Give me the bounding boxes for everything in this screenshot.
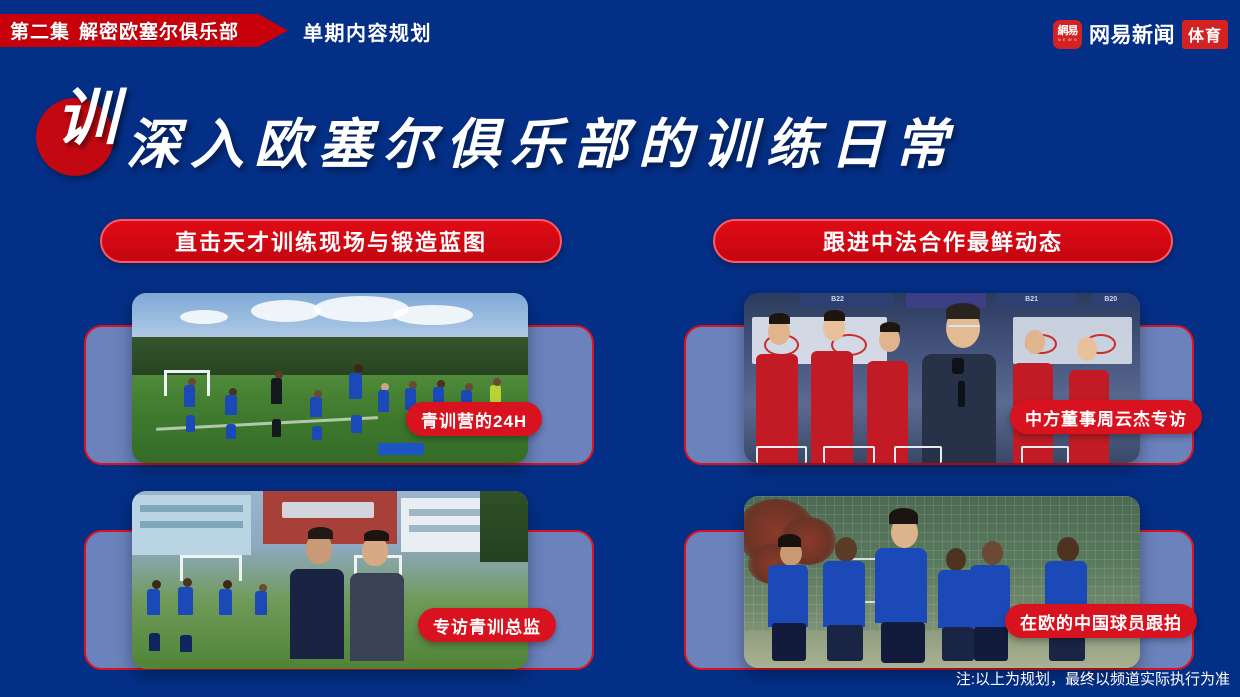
slide-root: 第二集解密欧塞尔俱乐部 单期内容规划 網易 N E W S 网易新闻 体育 训 … bbox=[0, 0, 1240, 697]
card-caption-label: 在欧的中国球员跟拍 bbox=[1020, 609, 1182, 634]
card-caption[interactable]: 专访青训总监 bbox=[418, 608, 556, 642]
column-header-right-label: 跟进中法合作最鲜动态 bbox=[823, 225, 1063, 257]
card-caption-label: 专访青训总监 bbox=[433, 613, 541, 638]
card-photo[interactable] bbox=[132, 293, 528, 463]
section-subtitle: 单期内容规划 bbox=[303, 17, 432, 46]
hero-title-block: 训 深入欧塞尔俱乐部的训练日常 bbox=[0, 80, 1240, 200]
ribbon-text: 第二集解密欧塞尔俱乐部 bbox=[10, 17, 239, 44]
card-caption[interactable]: 在欧的中国球员跟拍 bbox=[1005, 604, 1197, 638]
photo-scene-outdoor-pitch bbox=[132, 293, 528, 463]
episode-ribbon: 第二集解密欧塞尔俱乐部 bbox=[0, 14, 288, 47]
card-caption[interactable]: 中方董事周云杰专访 bbox=[1010, 400, 1202, 434]
netease-mark-top: 網易 bbox=[1057, 26, 1077, 37]
top-bar: 第二集解密欧塞尔俱乐部 单期内容规划 網易 N E W S 网易新闻 体育 bbox=[0, 0, 1240, 60]
card-caption[interactable]: 青训营的24H bbox=[406, 402, 542, 436]
netease-mark-bottom: N E W S bbox=[1058, 38, 1078, 42]
page-title: 深入欧塞尔俱乐部的训练日常 bbox=[126, 100, 958, 179]
photo-scene-indoor-ceremony: B22 B21 B20 bbox=[744, 293, 1140, 463]
photo-scene-fenced-pitch bbox=[744, 496, 1140, 668]
hero-badge-char: 训 bbox=[56, 88, 118, 150]
brand-category-badge: 体育 bbox=[1182, 20, 1228, 49]
footer-note: 注:以上为规划，最终以频道实际执行为准 bbox=[956, 668, 1230, 689]
card-photo[interactable] bbox=[744, 496, 1140, 668]
brand-lockup: 網易 N E W S 网易新闻 体育 bbox=[1053, 19, 1228, 49]
ribbon-title: 解密欧塞尔俱乐部 bbox=[79, 22, 239, 43]
card-photo[interactable]: B22 B21 B20 bbox=[744, 293, 1140, 463]
netease-logo-icon: 網易 N E W S bbox=[1053, 20, 1082, 49]
card-caption-label: 青训营的24H bbox=[421, 407, 527, 432]
episode-label: 第二集 bbox=[10, 22, 70, 43]
card-caption-label: 中方董事周云杰专访 bbox=[1025, 405, 1187, 430]
photo-scene-academy-building bbox=[132, 491, 528, 669]
column-header-left-label: 直击天才训练现场与锻造蓝图 bbox=[175, 225, 487, 257]
brand-name: 网易新闻 bbox=[1089, 19, 1175, 49]
column-header-left[interactable]: 直击天才训练现场与锻造蓝图 bbox=[100, 219, 562, 263]
column-header-right[interactable]: 跟进中法合作最鲜动态 bbox=[713, 219, 1173, 263]
card-photo[interactable] bbox=[132, 491, 528, 669]
